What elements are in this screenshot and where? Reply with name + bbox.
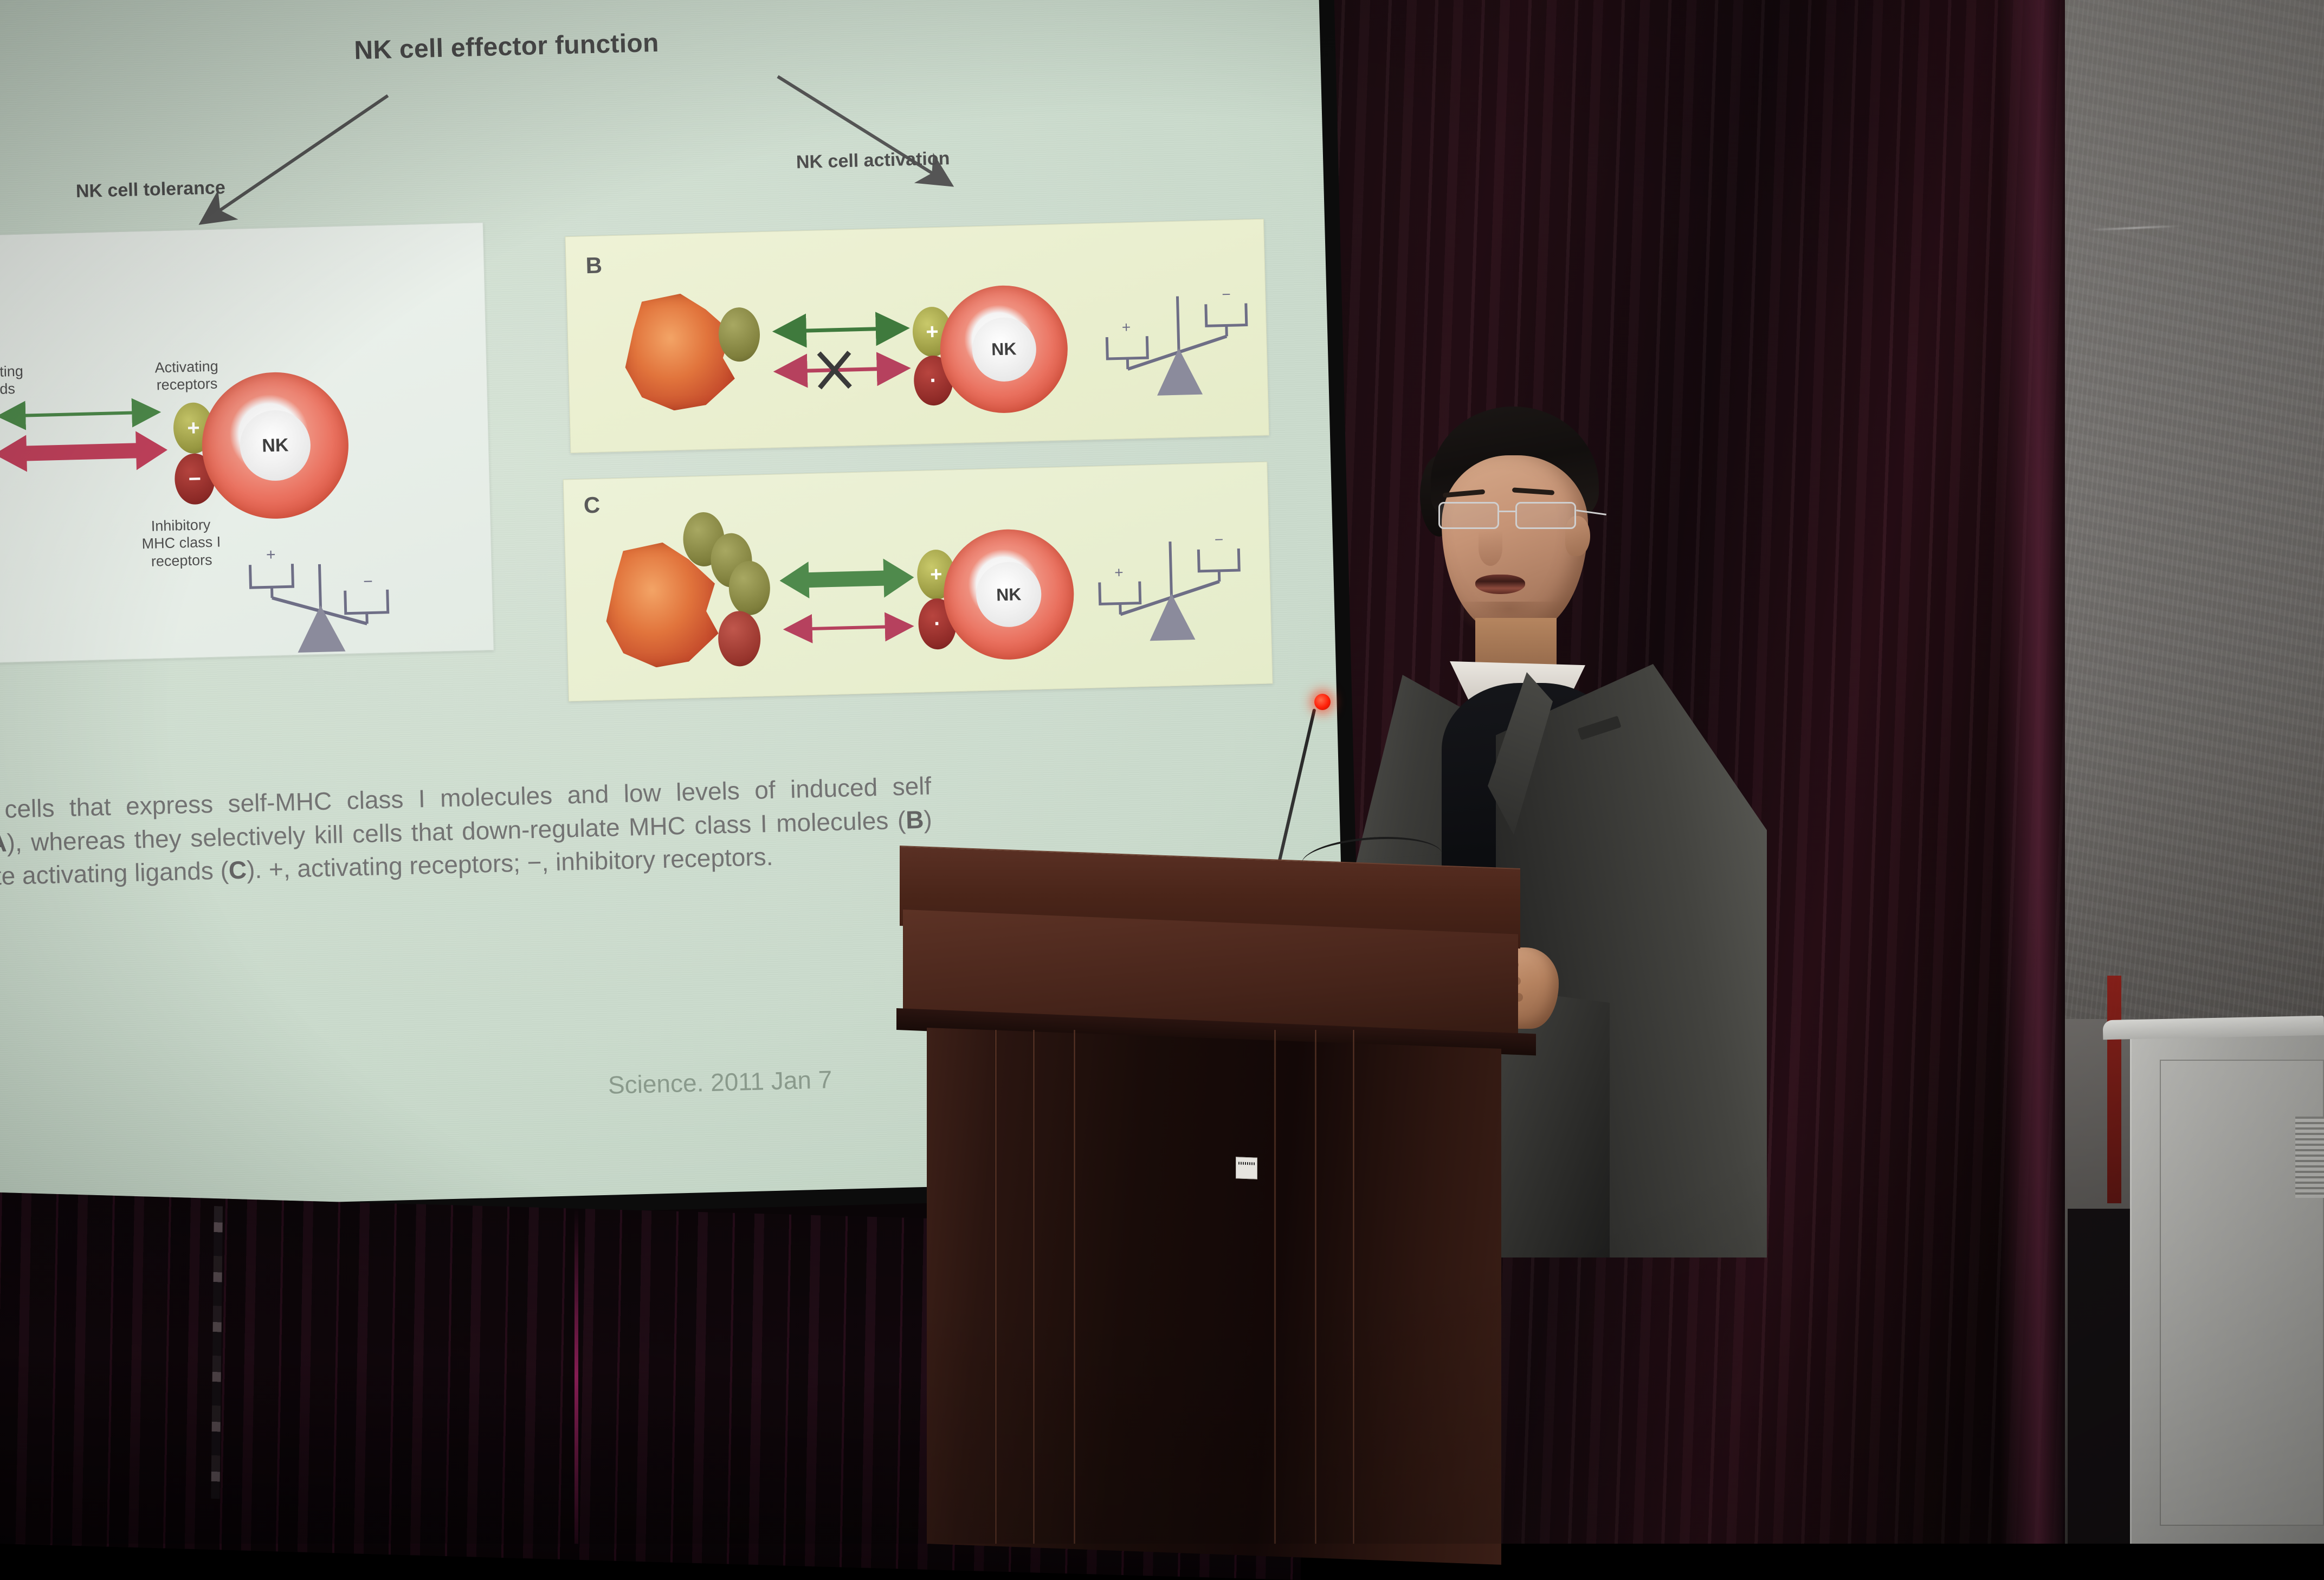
ligand-red-c bbox=[718, 610, 761, 667]
nose bbox=[1479, 530, 1502, 566]
curtain-seam bbox=[574, 1209, 578, 1544]
podium-flute-6 bbox=[1352, 1030, 1355, 1544]
podium-flute-5 bbox=[1314, 1030, 1317, 1544]
nk-cell-b: NK bbox=[939, 284, 1069, 415]
mouth bbox=[1475, 575, 1525, 594]
ligand-olive-b bbox=[718, 307, 761, 362]
podium-flute-1 bbox=[995, 1030, 997, 1544]
cabinet-shadow-gap bbox=[2068, 1209, 2138, 1544]
podium-asset-label bbox=[1236, 1157, 1257, 1179]
nk-cell-c: NK bbox=[942, 528, 1075, 661]
balance-scale-c: + − bbox=[1090, 523, 1256, 663]
slide-citation: Science. 2011 Jan 7 bbox=[608, 1065, 832, 1099]
nk-cell-label-b: NK bbox=[971, 317, 1037, 382]
balance-scale-b: + − bbox=[1098, 278, 1264, 418]
label-activating-ligands-a: Activatingligands bbox=[0, 362, 49, 399]
label-activating-receptors-a: Activatingreceptors bbox=[124, 357, 250, 395]
ligand-olive-c3 bbox=[728, 560, 771, 616]
glasses-temple bbox=[1576, 510, 1606, 515]
lens-left bbox=[1438, 502, 1499, 529]
microphone-led-icon bbox=[1314, 694, 1331, 710]
panel-letter-c: C bbox=[583, 492, 601, 519]
diagram-panel-a: + − NK Activatingligands Activatingrecep… bbox=[0, 222, 494, 665]
podium bbox=[894, 846, 1599, 1544]
podium-flute-2 bbox=[1032, 1030, 1035, 1544]
podium-flute-4 bbox=[1274, 1030, 1276, 1544]
slide-caption: are healthy cells that express self-MHC … bbox=[0, 769, 933, 897]
panel-letter-b: B bbox=[585, 253, 603, 279]
lecture-hall-scene: NK cells sp NK cell effector function NK… bbox=[0, 0, 2324, 1544]
nk-cell-label-c: NK bbox=[976, 561, 1042, 628]
flow-right-label: NK cell activation bbox=[796, 148, 950, 173]
svg-text:−: − bbox=[1214, 531, 1223, 548]
flow-left-label: NK cell tolerance bbox=[75, 177, 225, 202]
panel-b-arrows bbox=[768, 309, 916, 400]
panel-c-arrows bbox=[777, 552, 920, 654]
cabinet-vent-louvers bbox=[2295, 1117, 2324, 1198]
podium-flute-3 bbox=[1073, 1030, 1076, 1544]
nk-cell-label-a: NK bbox=[239, 409, 311, 481]
nk-cell-a: NK bbox=[201, 371, 351, 521]
balance-scale-a: + − bbox=[240, 538, 422, 678]
label-inhibitory-receptors-a: InhibitoryMHC class Ireceptors bbox=[113, 515, 249, 571]
svg-text:−: − bbox=[363, 572, 373, 590]
curtain-edge-highlight bbox=[2000, 0, 2065, 1544]
podium-column bbox=[927, 1028, 1501, 1565]
diagram-panel-c: C + · NK bbox=[563, 462, 1273, 702]
diagram-panel-b: B + · NK bbox=[565, 219, 1269, 454]
glasses bbox=[1434, 498, 1597, 536]
stone-wall bbox=[2054, 0, 2324, 1033]
svg-text:−: − bbox=[1222, 286, 1231, 302]
target-cell-b bbox=[621, 292, 738, 411]
svg-text:+: + bbox=[1121, 319, 1131, 336]
panel-a-arrows bbox=[0, 394, 171, 523]
svg-text:+: + bbox=[266, 546, 276, 564]
wall-red-strip bbox=[2107, 976, 2121, 1203]
glasses-bridge bbox=[1499, 511, 1515, 512]
lens-right bbox=[1515, 502, 1576, 529]
svg-text:+: + bbox=[1114, 564, 1124, 581]
